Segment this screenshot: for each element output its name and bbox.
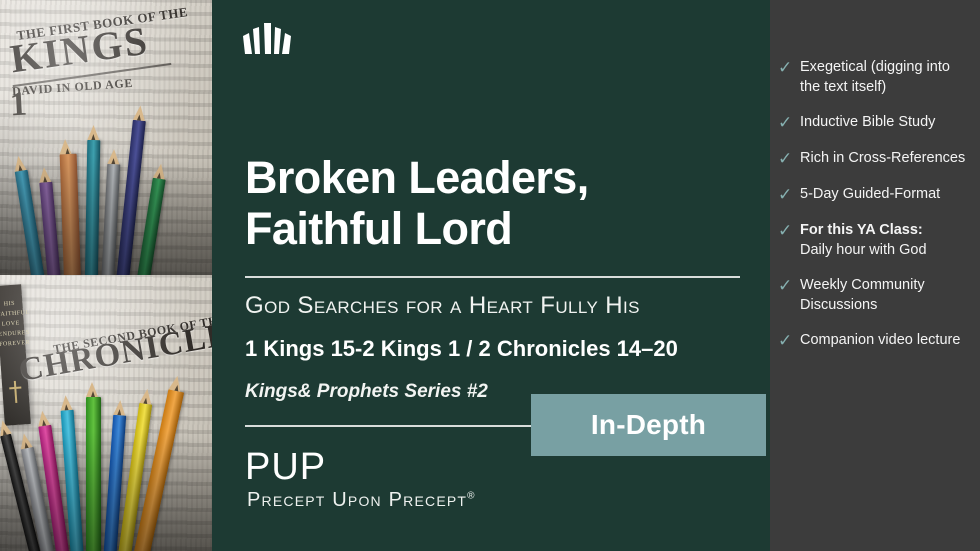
feature-label: For this YA Class:Daily hour with God <box>800 221 927 260</box>
divider-top <box>245 276 740 278</box>
trademark-symbol: ® <box>467 490 476 501</box>
feature-label: Rich in Cross-References <box>800 149 965 169</box>
brand-name-text: Precept Upon Precept <box>247 489 467 511</box>
title-line-2: Faithful Lord <box>245 203 745 254</box>
feature-list: ✓Exegetical (digging into the text itsel… <box>770 58 980 351</box>
check-icon: ✓ <box>778 331 795 351</box>
list-item: ✓For this YA Class:Daily hour with God <box>778 221 970 260</box>
list-item: ✓Companion video lecture <box>778 331 970 351</box>
left-image-column: THE FIRST BOOK OF THE KINGS DAVID IN OLD… <box>0 0 212 551</box>
pencil-cluster-kings <box>0 86 212 276</box>
list-item: ✓Rich in Cross-References <box>778 149 970 169</box>
page-title: Broken Leaders, Faithful Lord <box>245 152 745 254</box>
feature-label: 5-Day Guided-Format <box>800 185 940 205</box>
course-promo-slide: THE FIRST BOOK OF THE KINGS DAVID IN OLD… <box>0 0 980 551</box>
center-panel: Broken Leaders, Faithful Lord God Search… <box>212 0 770 551</box>
feature-label: Weekly Community Discussions <box>800 276 970 315</box>
brand-full-name: Precept Upon Precept® <box>247 489 476 512</box>
feature-label: Inductive Bible Study <box>800 113 935 133</box>
feature-label: Companion video lecture <box>800 331 960 351</box>
bible-photo-kings: THE FIRST BOOK OF THE KINGS DAVID IN OLD… <box>0 0 212 276</box>
divider-bottom <box>245 425 535 427</box>
series-label: Kings& Prophets Series #2 <box>245 381 488 403</box>
feature-label-bold: For this YA Class: <box>800 221 927 241</box>
features-sidebar: ✓Exegetical (digging into the text itsel… <box>770 0 980 551</box>
check-icon: ✓ <box>778 221 795 241</box>
title-line-1: Broken Leaders, <box>245 152 745 203</box>
check-icon: ✓ <box>778 276 795 296</box>
scripture-reference: 1 Kings 15-2 Kings 1 / 2 Chronicles 14–2… <box>245 336 678 362</box>
brand-abbrev: PUP <box>245 447 326 487</box>
open-book-fan-icon <box>240 18 306 60</box>
check-icon: ✓ <box>778 185 795 205</box>
check-icon: ✓ <box>778 58 795 78</box>
tagline: God Searches for a Heart Fully His <box>245 292 755 320</box>
list-item: ✓Exegetical (digging into the text itsel… <box>778 58 970 97</box>
feature-label: Exegetical (digging into the text itself… <box>800 58 970 97</box>
status-badge: In-Depth <box>531 394 766 456</box>
list-item: ✓5-Day Guided-Format <box>778 185 970 205</box>
list-item: ✓Weekly Community Discussions <box>778 276 970 315</box>
bookmark-text: HIS FAITHFUL LOVE ENDURES FOREVER <box>0 298 26 350</box>
check-icon: ✓ <box>778 149 795 169</box>
badge-label: In-Depth <box>591 409 706 441</box>
pencil-cluster-chronicles <box>0 361 212 551</box>
list-item: ✓Inductive Bible Study <box>778 113 970 133</box>
bible-photo-chronicles: HIS FAITHFUL LOVE ENDURES FOREVER THE SE… <box>0 275 212 551</box>
check-icon: ✓ <box>778 113 795 133</box>
